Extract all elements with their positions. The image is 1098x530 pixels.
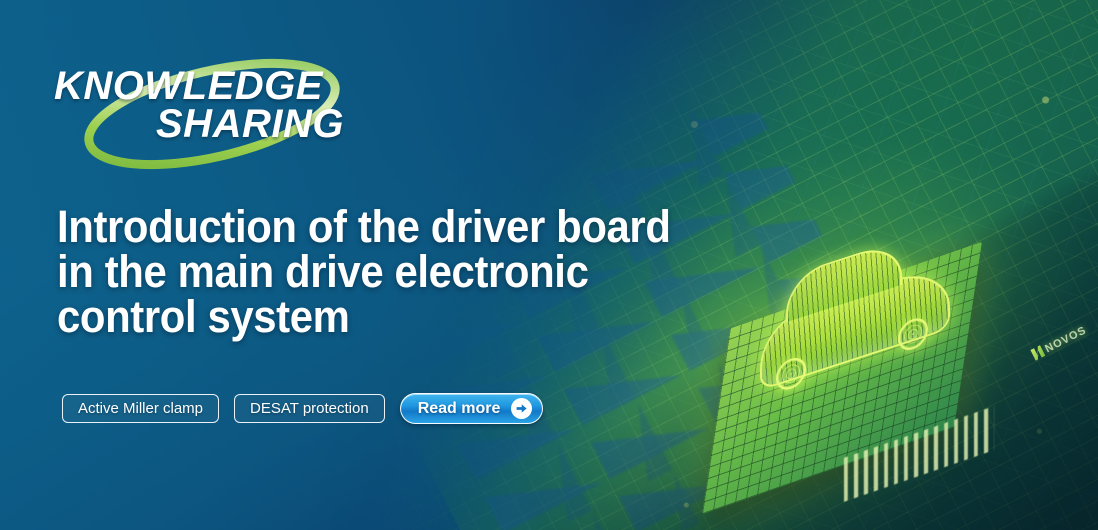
action-row: Active Miller clamp DESAT protection Rea… — [62, 393, 543, 424]
read-more-button[interactable]: Read more — [400, 393, 544, 424]
tag-label: DESAT protection — [250, 400, 369, 417]
arrow-right-icon — [511, 398, 532, 419]
read-more-label: Read more — [418, 400, 501, 418]
logo-wordmark: KNOWLEDGE SHARING — [54, 68, 374, 143]
tag-active-miller-clamp[interactable]: Active Miller clamp — [62, 394, 219, 423]
tag-label: Active Miller clamp — [78, 400, 203, 417]
headline-line-1: Introduction of the driver board — [57, 204, 727, 249]
knowledge-sharing-logo: KNOWLEDGE SHARING — [46, 52, 376, 177]
logo-line-2: SHARING — [54, 106, 374, 144]
knowledge-sharing-banner: NOVOS KNOWLEDGE SHARING Introduction of … — [0, 0, 1098, 530]
page-title: Introduction of the driver board in the … — [57, 204, 727, 339]
headline-line-3: control system — [57, 294, 727, 339]
logo-line-1: KNOWLEDGE — [54, 68, 374, 106]
tag-desat-protection[interactable]: DESAT protection — [234, 394, 385, 423]
headline-line-2: in the main drive electronic — [57, 249, 727, 294]
processor-chip-icon — [694, 246, 994, 492]
